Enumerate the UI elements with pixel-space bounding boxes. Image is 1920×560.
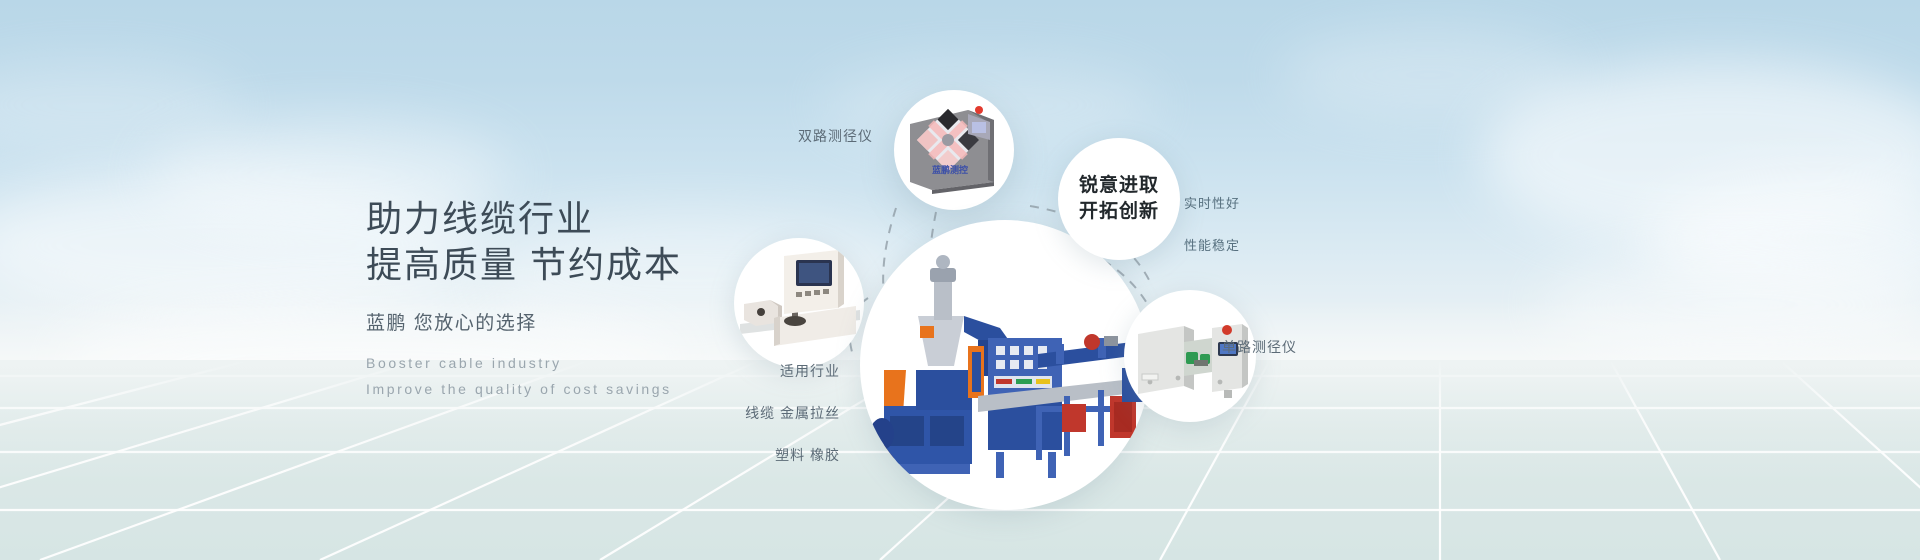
- headline-subtitle: 蓝鹏 您放心的选择: [366, 310, 886, 338]
- product-brand-text: 蓝鹏测控: [932, 164, 968, 176]
- headline-line-2: 提高质量 节约成本: [366, 242, 886, 288]
- label-performance-line-1: 实时性好: [1184, 193, 1240, 214]
- extrusion-line-image: [860, 220, 1150, 510]
- hero-banner: 助力线缆行业 提高质量 节约成本 蓝鹏 您放心的选择 Booster cable…: [0, 0, 1920, 560]
- headline-english-1: Booster cable industry: [366, 350, 886, 376]
- bubble-slogan: 锐意进取 开拓创新: [1058, 138, 1180, 260]
- label-performance: 实时性好 性能稳定: [1184, 172, 1240, 277]
- bubble-production-line[interactable]: [860, 220, 1150, 510]
- bubble-dual-gauge[interactable]: 蓝鹏测控: [894, 90, 1014, 210]
- label-performance-line-2: 性能稳定: [1184, 235, 1240, 256]
- headline-block: 助力线缆行业 提高质量 节约成本 蓝鹏 您放心的选择 Booster cable…: [366, 196, 886, 402]
- label-industry-line-2: 塑料 橡胶: [718, 445, 840, 466]
- label-single-gauge: 单路测径仪: [1222, 337, 1297, 358]
- label-dual-gauge: 双路测径仪: [798, 126, 873, 147]
- headline-english-2: Improve the quality of cost savings: [366, 376, 886, 402]
- slogan-line-1: 锐意进取: [1079, 173, 1159, 199]
- label-industry-line-1: 线缆 金属拉丝: [718, 403, 840, 424]
- headline-line-1: 助力线缆行业: [366, 196, 886, 242]
- slogan-line-2: 开拓创新: [1079, 199, 1159, 225]
- dual-diameter-gauge-image: 蓝鹏测控: [894, 90, 1014, 210]
- slogan-text: 锐意进取 开拓创新: [1079, 173, 1159, 225]
